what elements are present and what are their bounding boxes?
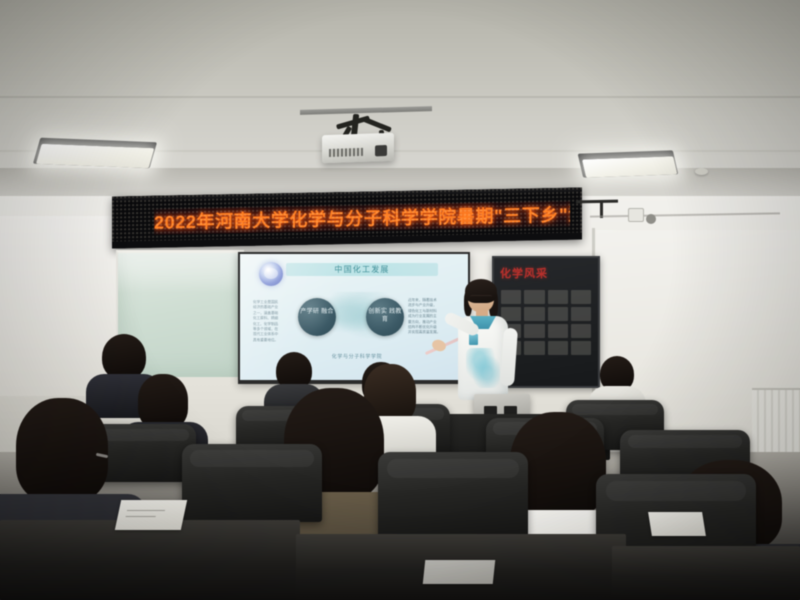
- paper-line: [127, 510, 165, 511]
- notice-board-cell: [548, 341, 568, 355]
- desk-paper-left: [115, 500, 187, 530]
- paper-line: [126, 516, 156, 517]
- smoke-detector-icon: [695, 168, 708, 175]
- desk-paper-mid: [423, 560, 496, 584]
- chalkboard-glare: [118, 253, 244, 293]
- wall-sensor-icon: [646, 214, 656, 224]
- lecture-hall-photo: 2022年河南大学化学与分子科学学院暑期"三下乡"活动 中国化工发展 产学研 融…: [0, 0, 800, 600]
- ceiling-seam: [0, 96, 800, 98]
- notice-board-cell: [524, 307, 544, 321]
- notice-board-cell: [548, 324, 568, 338]
- slide-text-left: 化学工业是国民 经济的基础产业 之一，涵盖基础 化工原料、精细 化工、化学制品 …: [253, 300, 295, 343]
- slide-circle-right: 创新实 践教育: [366, 298, 404, 336]
- projector-lens-icon: [375, 145, 387, 156]
- chair-front-mid: [378, 452, 528, 538]
- notice-board-cell: [571, 307, 591, 321]
- ceiling-light-right: [578, 150, 679, 177]
- notice-board-cell: [548, 307, 568, 321]
- presenter-arm-right: [500, 328, 518, 387]
- notice-board-cell: [571, 324, 591, 338]
- slide-title: 中国化工发展: [286, 263, 438, 276]
- notice-board-title: 化学风采: [500, 265, 592, 283]
- notice-board-cell: [548, 290, 568, 304]
- notice-board-cell: [524, 341, 544, 355]
- notice-board-cell: [571, 341, 591, 355]
- university-emblem-icon: [259, 262, 283, 286]
- presenter-shirt-print: [466, 348, 500, 388]
- chair-front-left: [182, 444, 322, 522]
- led-scrolling-banner: 2022年河南大学化学与分子科学学院暑期"三下乡"活动: [112, 187, 582, 248]
- glasses-icon: [470, 295, 492, 301]
- notice-board-cell: [524, 324, 544, 338]
- desk-front-left: [0, 520, 300, 600]
- ceiling-light-left: [33, 138, 157, 169]
- notice-board-cell: [571, 290, 591, 304]
- slide-circle-left: 产学研 融合: [298, 298, 336, 336]
- light-lens: [582, 156, 677, 177]
- ceiling-projector: [322, 133, 394, 164]
- wall-junction-box: [628, 208, 644, 222]
- notice-board-cell: [524, 290, 544, 304]
- desk-front-right: [612, 546, 800, 600]
- desk-paper-right: [648, 512, 706, 536]
- light-lens: [36, 144, 154, 168]
- audience-head: [16, 398, 108, 502]
- projector-vent: [329, 148, 363, 157]
